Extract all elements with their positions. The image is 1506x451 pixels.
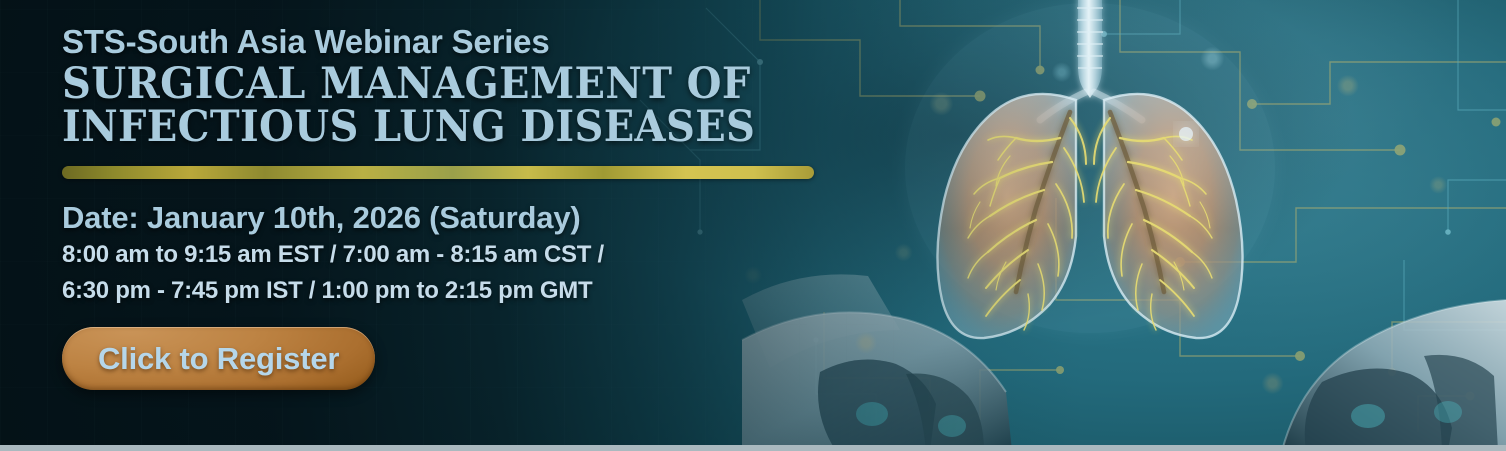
event-time-line-1: 8:00 am to 9:15 am EST / 7:00 am - 8:15 … xyxy=(62,239,862,271)
headline-line-2: INFECTIOUS LUNG DISEASES xyxy=(62,106,806,150)
bottom-edge-strip xyxy=(0,445,1506,451)
webinar-promo-banner: STS-South Asia Webinar Series SURGICAL M… xyxy=(0,0,1506,451)
cta-container: Click to Register xyxy=(62,327,862,390)
banner-content: STS-South Asia Webinar Series SURGICAL M… xyxy=(62,24,862,390)
lungs-hologram-icon xyxy=(880,0,1300,388)
event-date: Date: January 10th, 2026 (Saturday) xyxy=(62,201,862,235)
register-button[interactable]: Click to Register xyxy=(62,327,375,390)
gold-divider xyxy=(62,166,814,179)
event-time-line-2: 6:30 pm - 7:45 pm IST / 1:00 pm to 2:15 … xyxy=(62,275,862,307)
series-eyebrow: STS-South Asia Webinar Series xyxy=(62,24,862,60)
headline-line-1: SURGICAL MANAGEMENT OF xyxy=(62,63,806,107)
page-title: SURGICAL MANAGEMENT OF INFECTIOUS LUNG D… xyxy=(62,63,806,151)
